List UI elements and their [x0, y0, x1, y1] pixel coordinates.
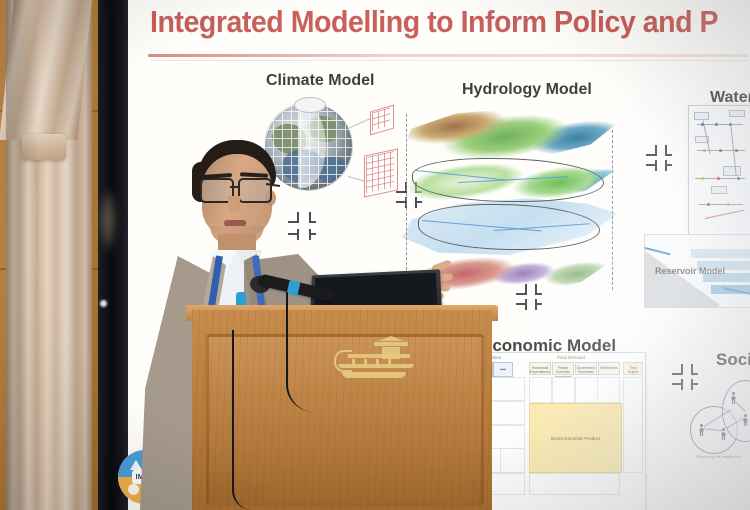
emblem-bridge-deck	[348, 354, 410, 358]
emblem-eave	[374, 342, 408, 346]
dark-door-strip	[98, 0, 132, 510]
microphone-cable	[286, 292, 314, 412]
door-highlight	[100, 300, 107, 307]
podium-emblem	[330, 334, 426, 392]
power-cable	[232, 330, 252, 510]
face-shading	[202, 154, 272, 238]
curtain-shading	[6, 0, 92, 510]
emblem-roof	[378, 336, 404, 341]
emblem-scroll	[334, 350, 352, 372]
conference-photo: Integrated Modelling to Inform Policy an…	[0, 0, 750, 510]
door-reflection	[100, 190, 116, 250]
emblem-wave	[342, 372, 406, 378]
